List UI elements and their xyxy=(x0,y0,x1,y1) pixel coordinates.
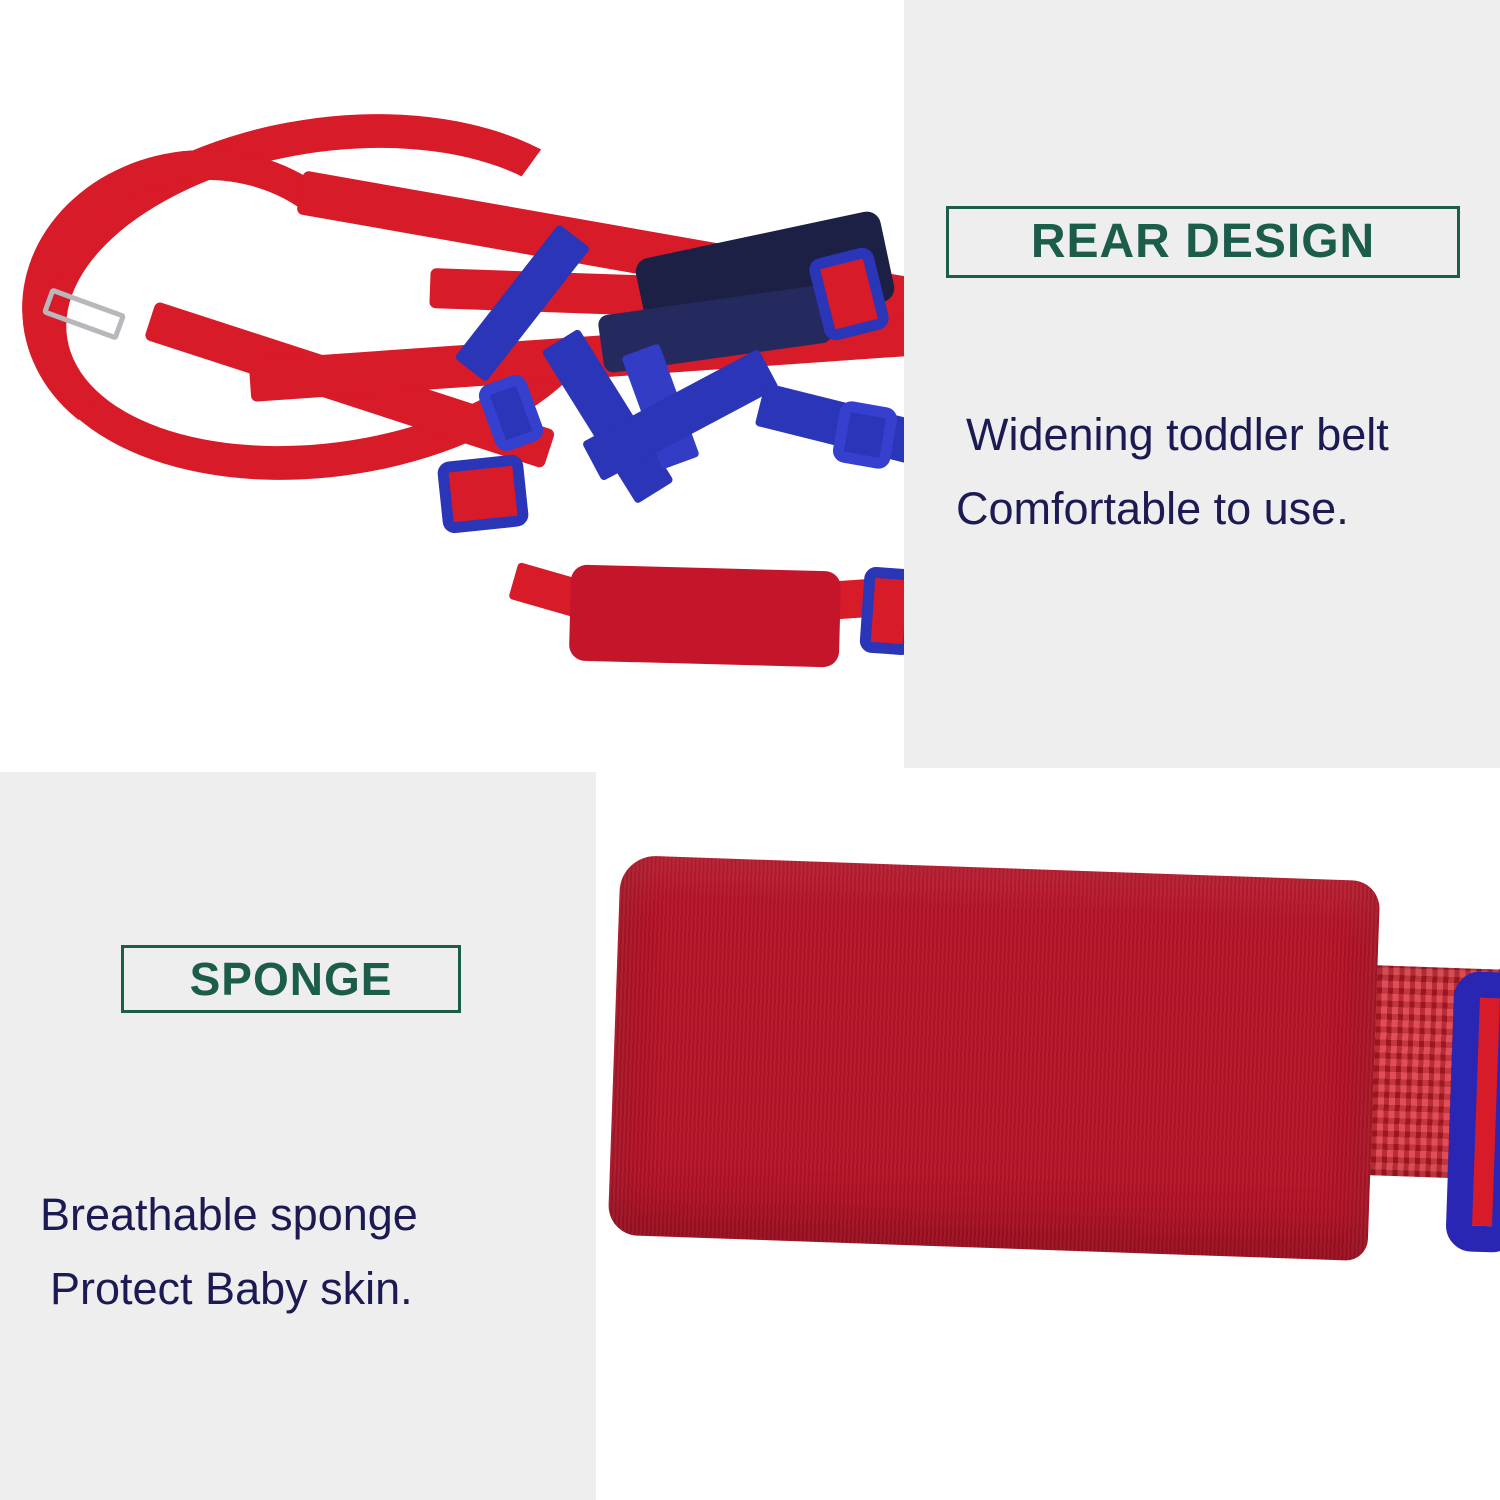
sponge-body: Breathable sponge Protect Baby skin. xyxy=(40,1178,418,1327)
blue-plastic-buckle xyxy=(1445,971,1500,1253)
sponge-heading-box: SPONGE xyxy=(121,945,461,1013)
infographic-canvas: REAR DESIGN Widening toddler belt Comfor… xyxy=(0,0,1500,1500)
sponge-photo xyxy=(596,772,1500,1500)
red-sponge-pad-large xyxy=(608,855,1381,1261)
rear-design-heading: REAR DESIGN xyxy=(1031,218,1375,266)
rear-design-line-1: Widening toddler belt xyxy=(966,398,1389,472)
sponge-line-1: Breathable sponge xyxy=(40,1178,418,1252)
red-sponge-pad-small xyxy=(569,564,841,667)
rear-design-text-panel xyxy=(904,0,1500,768)
blue-buckle-2 xyxy=(436,454,529,535)
rear-design-line-2: Comfortable to use. xyxy=(956,472,1389,546)
blue-buckle-5 xyxy=(831,399,899,470)
sponge-text-panel xyxy=(0,772,596,1500)
sponge-heading: SPONGE xyxy=(190,956,393,1002)
rear-design-photo xyxy=(0,0,904,768)
rear-design-body: Widening toddler belt Comfortable to use… xyxy=(966,398,1389,547)
sponge-line-2: Protect Baby skin. xyxy=(50,1252,418,1326)
rear-design-heading-box: REAR DESIGN xyxy=(946,206,1460,278)
blue-buckle-3 xyxy=(859,566,904,656)
